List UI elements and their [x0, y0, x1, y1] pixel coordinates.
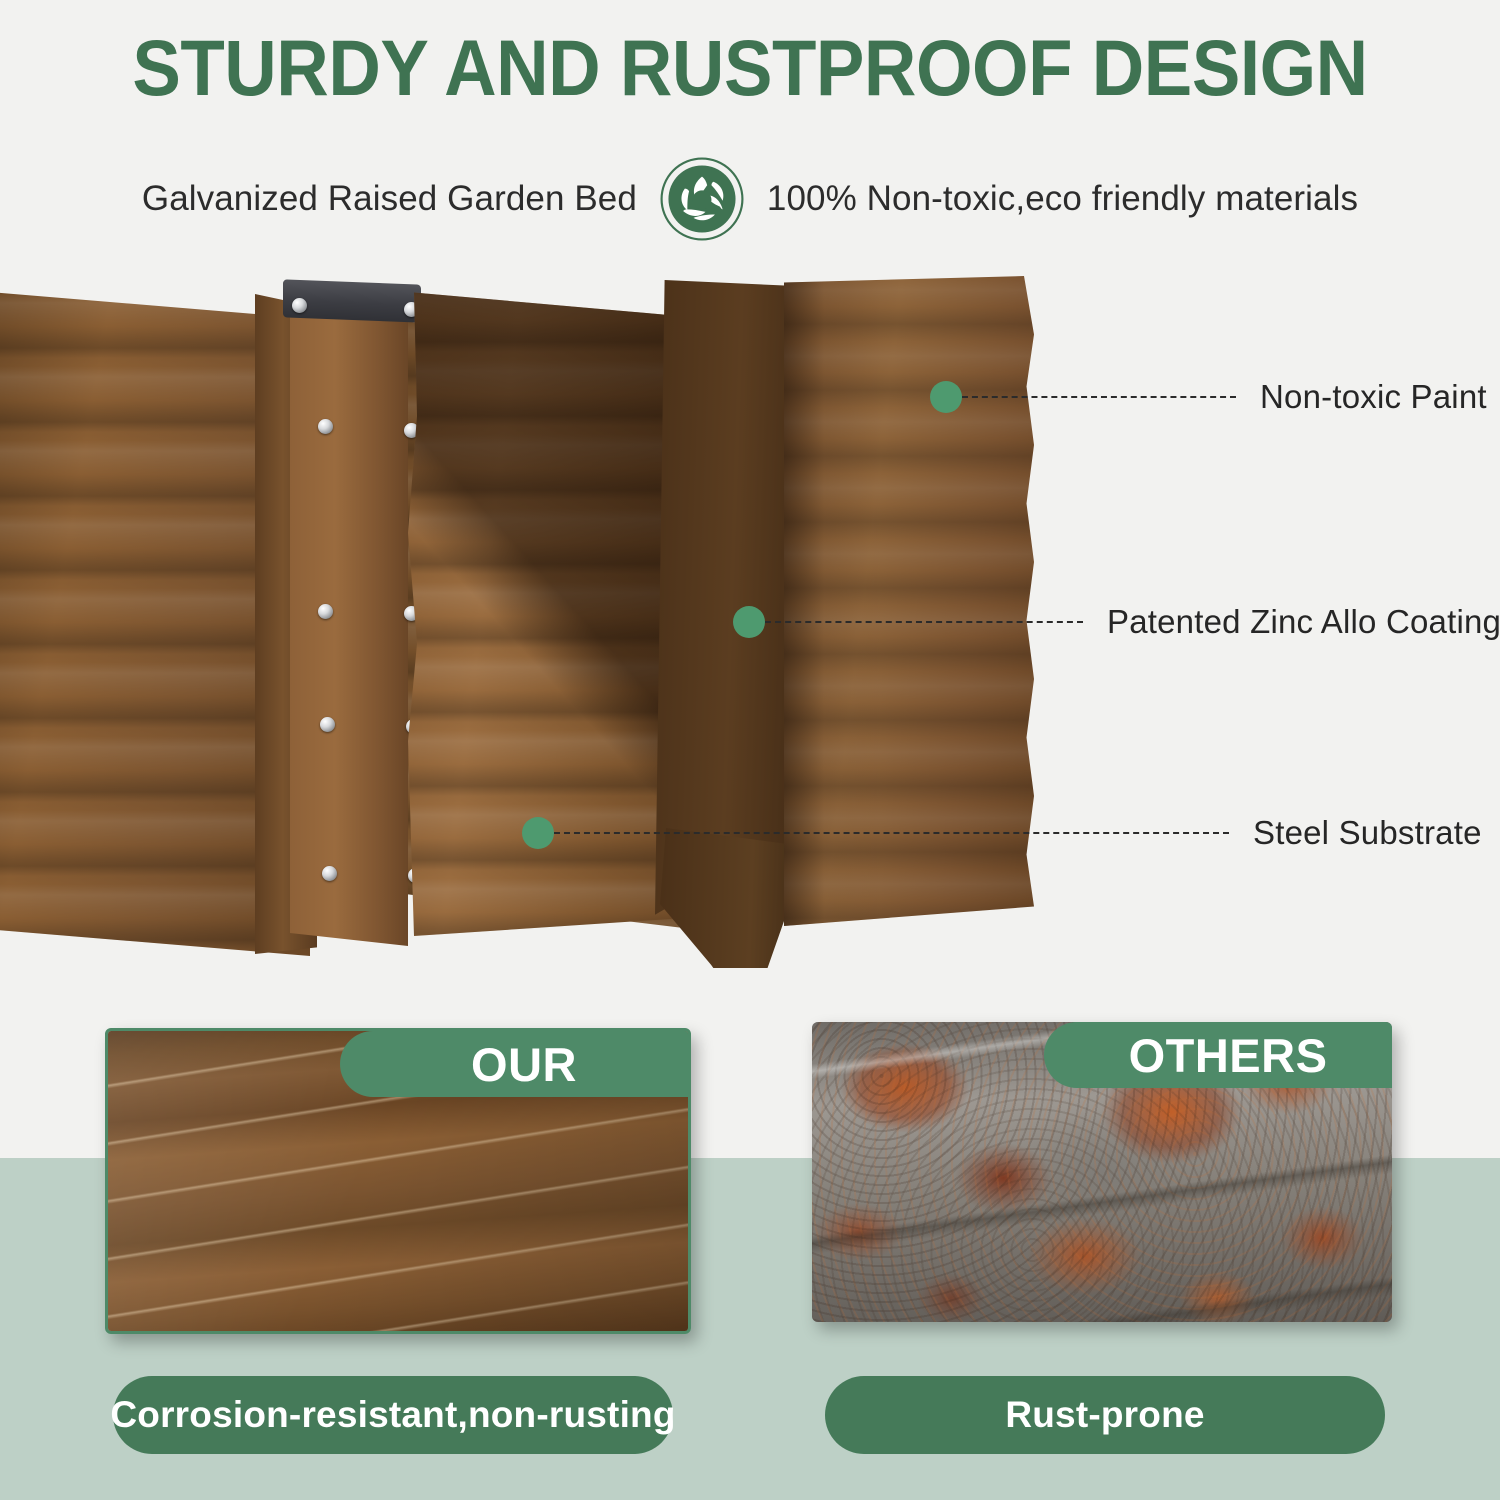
callout-leader-line [765, 621, 1083, 623]
callout-leader-line [554, 832, 1229, 834]
screw-icon [320, 717, 335, 732]
badge-our: OUR [340, 1031, 688, 1097]
callout-leader-line [962, 396, 1236, 398]
callout-dot-icon [930, 381, 962, 413]
subtitle-right-text: 100% Non-toxic,eco friendly materials [767, 179, 1358, 219]
callout-non-toxic-paint: Non-toxic Paint [930, 382, 1487, 412]
screw-icon [318, 604, 333, 619]
callout-label: Steel Substrate [1253, 814, 1482, 852]
badge-others: OTHERS [1044, 1022, 1392, 1088]
page-title: STURDY AND RUSTPROOF DESIGN [60, 26, 1440, 110]
screw-icon [318, 419, 333, 434]
callout-zinc-alloy-coating: Patented Zinc Allo Coating [733, 607, 1500, 637]
callout-label: Non-toxic Paint [1260, 378, 1487, 416]
comparison-card-ours: OUR [105, 1028, 691, 1334]
callout-dot-icon [733, 606, 765, 638]
subtitle-left-text: Galvanized Raised Garden Bed [142, 179, 637, 219]
caption-others: Rust-prone [825, 1376, 1385, 1454]
callout-steel-substrate: Steel Substrate [522, 818, 1482, 848]
callout-dot-icon [522, 817, 554, 849]
eco-leaf-recycle-icon [659, 156, 745, 242]
screw-icon [292, 298, 307, 313]
comparison-card-others: OTHERS [812, 1022, 1392, 1322]
caption-ours: Corrosion-resistant,non-rusting [113, 1376, 673, 1454]
corner-post [290, 296, 408, 946]
subtitle-row: Galvanized Raised Garden Bed 100% Non-to… [0, 152, 1500, 246]
screw-icon [322, 866, 337, 881]
callout-label: Patented Zinc Allo Coating [1107, 603, 1500, 641]
